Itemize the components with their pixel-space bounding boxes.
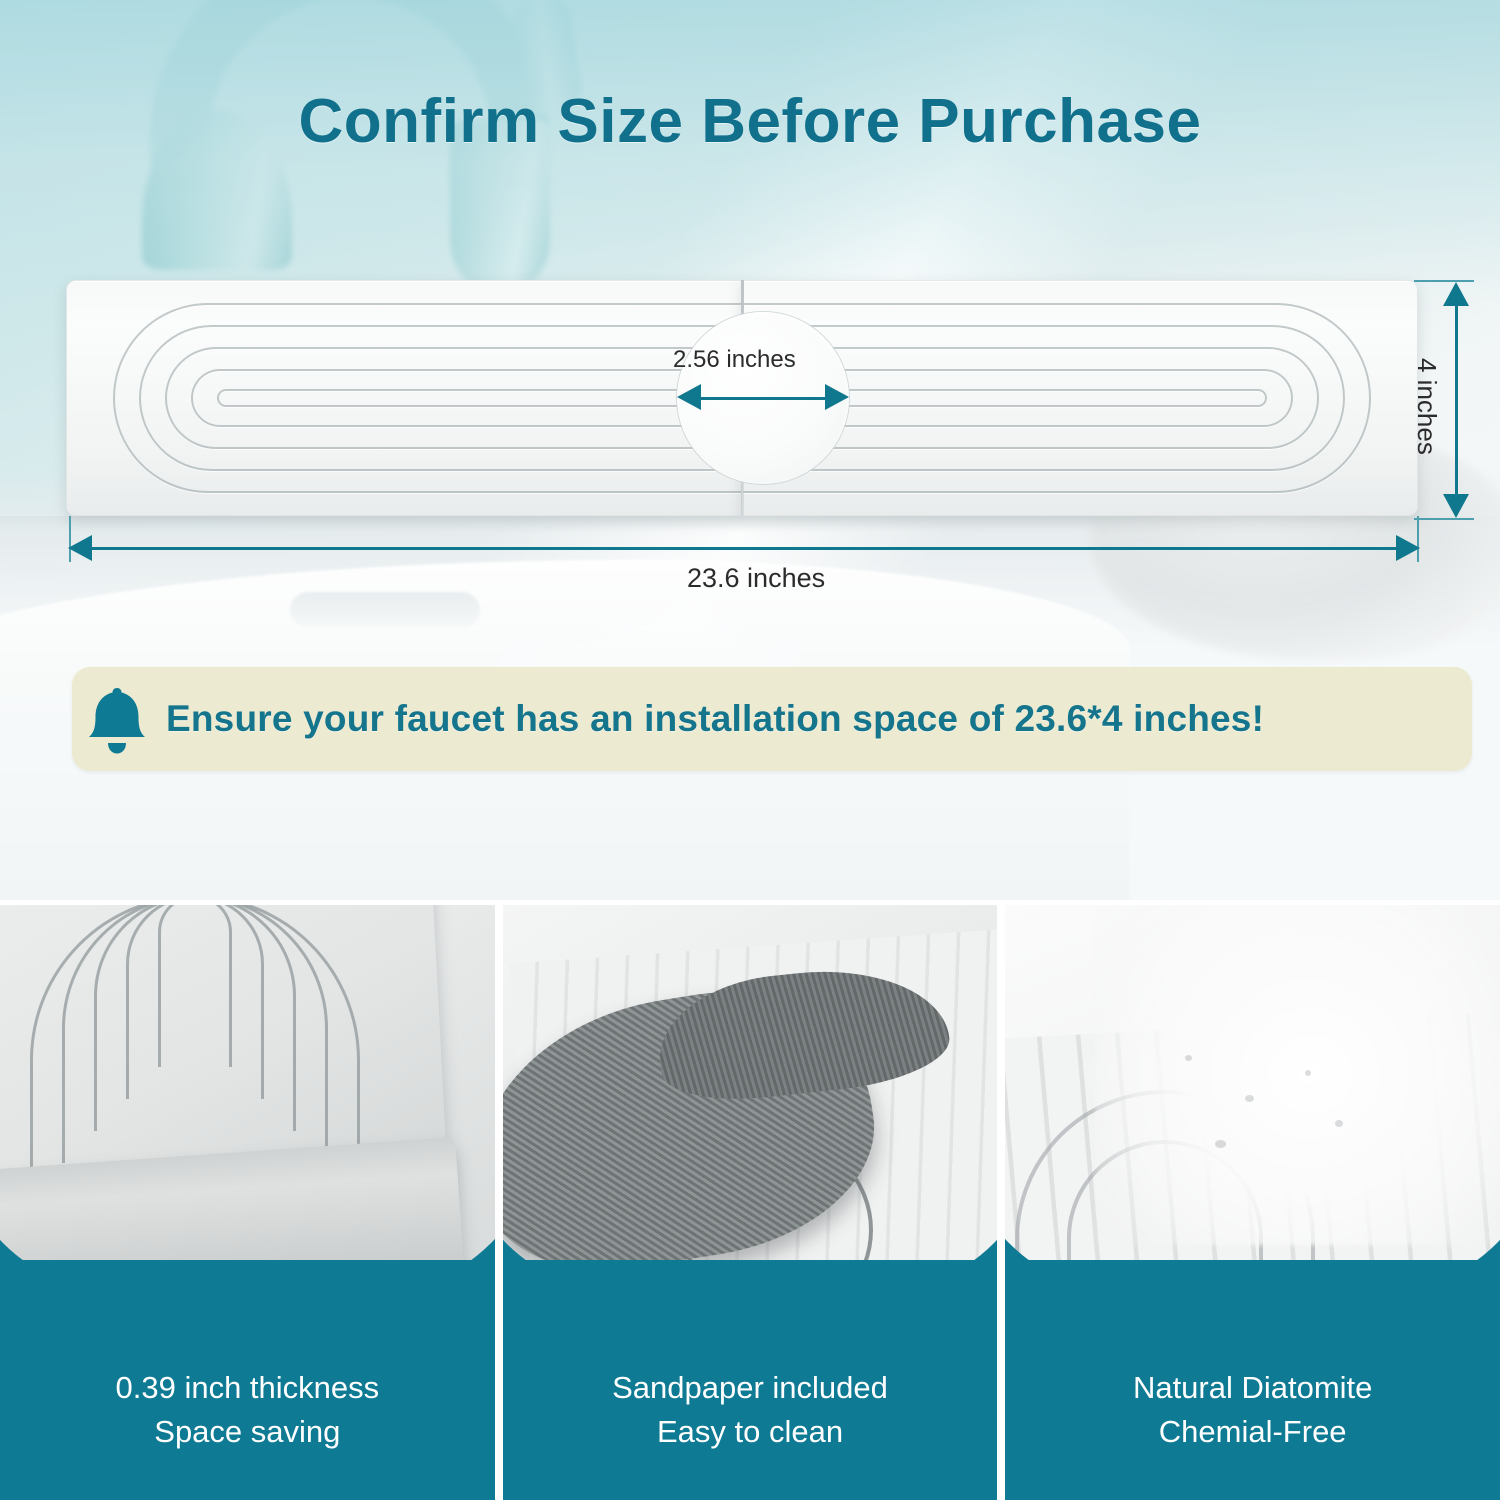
notice-text: Ensure your faucet has an installation s… bbox=[166, 698, 1264, 740]
feature-panels: 0.39 inch thickness Space saving Sandpap… bbox=[0, 905, 1500, 1500]
page-title: Confirm Size Before Purchase bbox=[0, 86, 1500, 157]
mat-left-half bbox=[66, 280, 742, 516]
feature-caption-line2: Space saving bbox=[0, 1410, 495, 1454]
product-mat: 2.56 inches bbox=[66, 280, 1418, 516]
height-extension-bottom bbox=[1414, 518, 1474, 520]
height-dimension-annotation: 4 inches bbox=[1430, 280, 1500, 522]
width-dimension-label: 23.6 inches bbox=[687, 563, 825, 594]
feature-caption: Sandpaper included Easy to clean bbox=[503, 1366, 998, 1454]
feature-caption: Natural Diatomite Chemial-Free bbox=[1005, 1366, 1500, 1454]
feature-panel-sandpaper: Sandpaper included Easy to clean bbox=[503, 905, 998, 1500]
feature-panel-diatomite: Natural Diatomite Chemial-Free bbox=[1005, 905, 1500, 1500]
feature-caption-line2: Easy to clean bbox=[503, 1410, 998, 1454]
bell-icon bbox=[84, 683, 150, 755]
mat-groove-rings-left bbox=[67, 281, 741, 515]
feature-caption-line2: Chemial-Free bbox=[1005, 1410, 1500, 1454]
feature-caption-line1: 0.39 inch thickness bbox=[0, 1366, 495, 1410]
feature-panel-thickness: 0.39 inch thickness Space saving bbox=[0, 905, 495, 1500]
installation-notice-banner: Ensure your faucet has an installation s… bbox=[72, 667, 1472, 771]
product-infographic: Confirm Size Before Purchase bbox=[0, 0, 1500, 1500]
width-dimension-annotation: 23.6 inches bbox=[60, 516, 1430, 596]
hole-dimension-annotation: 2.56 inches bbox=[677, 378, 849, 418]
hole-dimension-label: 2.56 inches bbox=[673, 346, 796, 374]
feature-caption-line1: Natural Diatomite bbox=[1005, 1366, 1500, 1410]
height-dimension-label: 4 inches bbox=[1411, 358, 1442, 455]
background-soap-tray bbox=[290, 592, 480, 628]
feature-caption-line1: Sandpaper included bbox=[503, 1366, 998, 1410]
feature-caption: 0.39 inch thickness Space saving bbox=[0, 1366, 495, 1454]
